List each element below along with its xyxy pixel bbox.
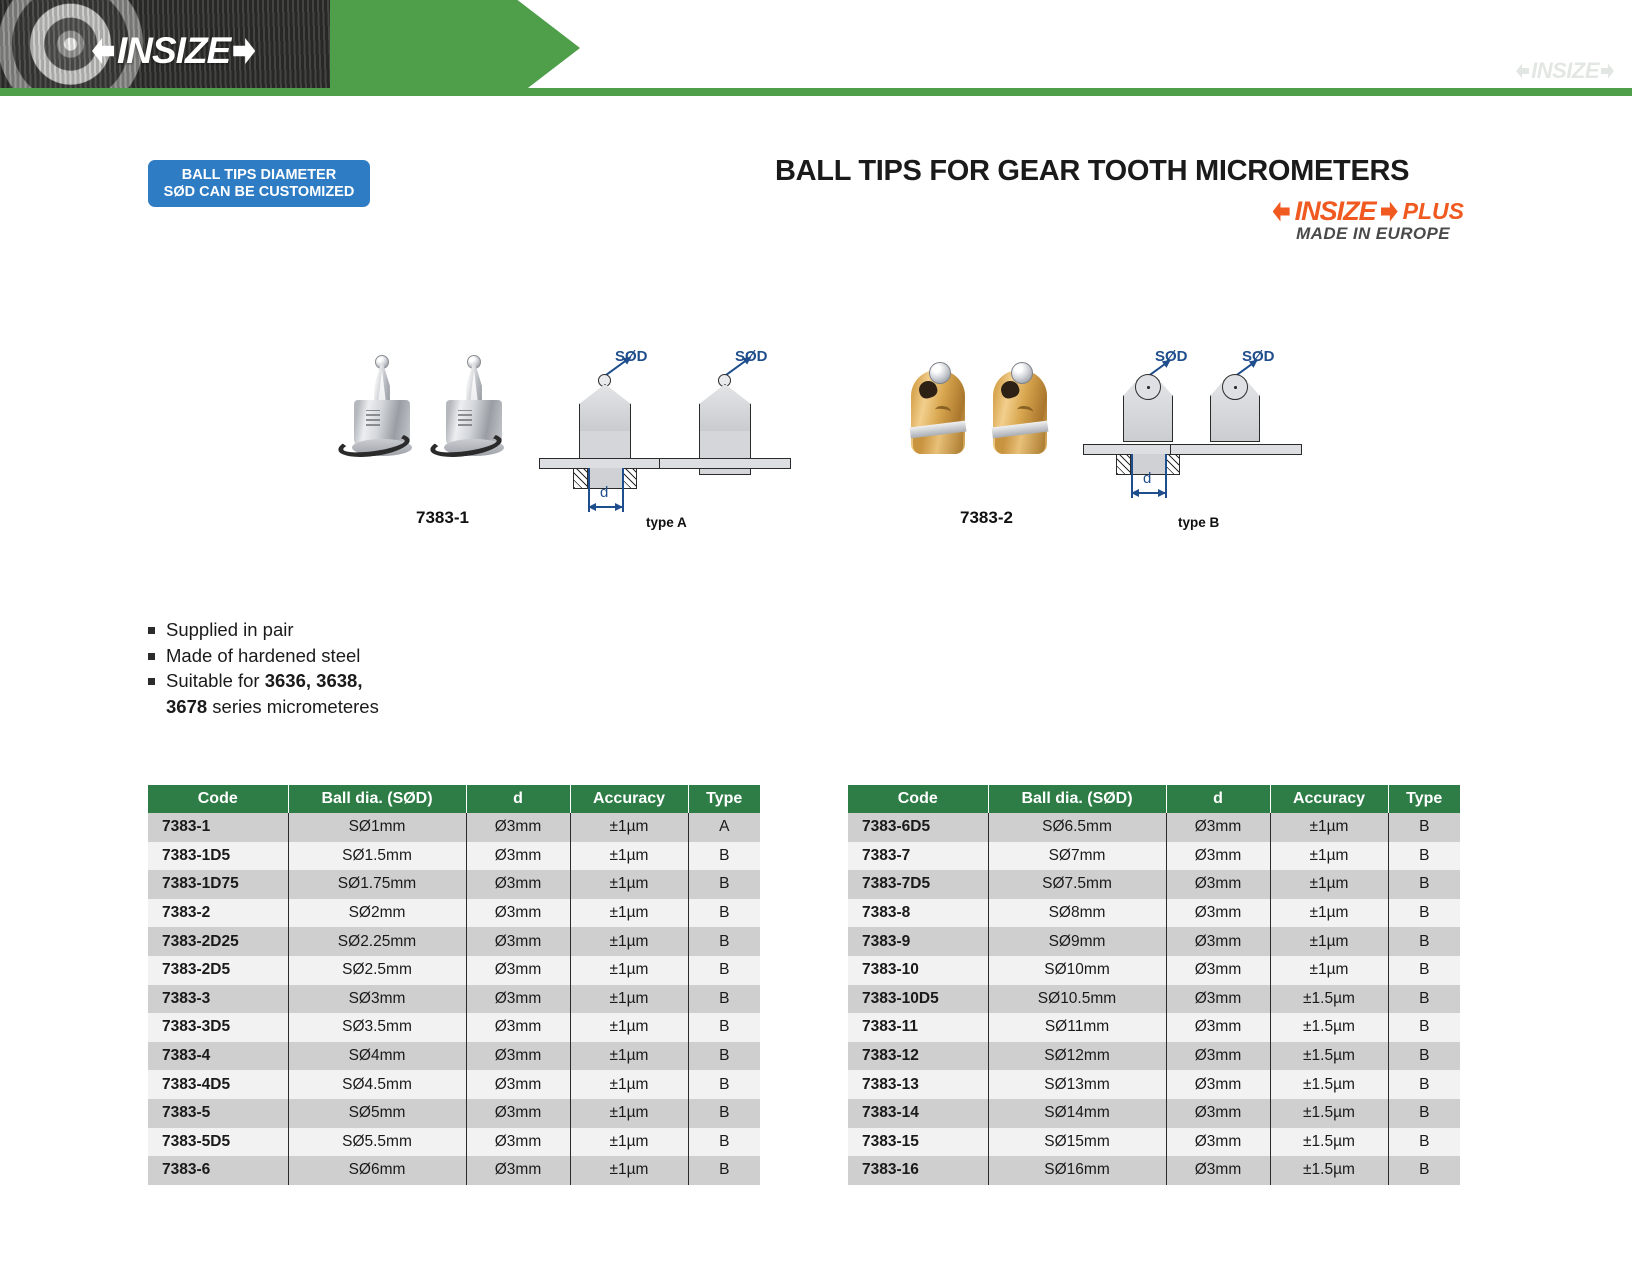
cell-accuracy: ±1µm [570,1156,688,1185]
cell-type: B [688,1042,760,1071]
cell-accuracy: ±1.5µm [1270,1156,1388,1185]
ball-tip-photo-a-2 [442,360,506,452]
table-row: 7383-6D5SØ6.5mmØ3mm±1µmB [848,813,1460,842]
tip-engraving [458,410,472,426]
feature-text: Made of hardened steel [166,644,360,668]
dim-arrow-left-icon [1131,489,1139,497]
cell-d: Ø3mm [1166,870,1270,899]
cell-d: Ø3mm [466,813,570,842]
table-row: 7383-2D5SØ2.5mmØ3mm±1µmB [148,956,760,985]
figure-left-type-label: type A [646,515,687,530]
cell-code: 7383-7D5 [848,870,988,899]
drawing-ball [1222,374,1248,400]
bullet-square-icon [148,678,155,685]
cell-code: 7383-15 [848,1128,988,1157]
figure-left-caption: 7383-1 [416,508,469,528]
table-row: 7383-15SØ15mmØ3mm±1.5µmB [848,1128,1460,1157]
cell-d: Ø3mm [1166,1156,1270,1185]
page-header: INSIZE INSIZE [0,0,1632,100]
column-header-d: d [466,785,570,813]
cell-ball-dia: SØ12mm [988,1042,1166,1071]
cell-type: B [688,842,760,871]
callout-line-1: BALL TIPS DIAMETER [182,167,336,184]
feature-series-list: 3636, 3638, [265,670,363,691]
column-header-accuracy: Accuracy [1270,785,1388,813]
drawing-hatch-right [622,468,637,489]
cell-ball-dia: SØ11mm [988,1013,1166,1042]
cell-type: B [1388,985,1460,1014]
cell-accuracy: ±1µm [1270,813,1388,842]
cell-d: Ø3mm [466,956,570,985]
cell-type: B [1388,1128,1460,1157]
list-item: Supplied in pair [148,618,608,642]
cell-d: Ø3mm [1166,1042,1270,1071]
cell-d: Ø3mm [466,1128,570,1157]
cell-code: 7383-4D5 [148,1070,288,1099]
cell-type: B [1388,927,1460,956]
cell-accuracy: ±1µm [570,1128,688,1157]
cell-accuracy: ±1µm [1270,842,1388,871]
cell-ball-dia: SØ2.25mm [288,927,466,956]
cell-ball-dia: SØ15mm [988,1128,1166,1157]
cell-d: Ø3mm [1166,985,1270,1014]
cell-d: Ø3mm [466,1070,570,1099]
cell-d: Ø3mm [1166,956,1270,985]
feature-text-continuation: 3678 series micrometeres [148,695,608,719]
spec-table-right-body: 7383-6D5SØ6.5mmØ3mm±1µmB7383-7SØ7mmØ3mm±… [848,813,1460,1185]
watermark-text: INSIZE [1531,58,1599,84]
table-row: 7383-9SØ9mmØ3mm±1µmB [848,927,1460,956]
cell-type: A [688,813,760,842]
insize-watermark: INSIZE [1516,58,1614,84]
cell-ball-dia: SØ13mm [988,1070,1166,1099]
cell-type: B [688,1070,760,1099]
table-row: 7383-7SØ7mmØ3mm±1µmB [848,842,1460,871]
table-row: 7383-12SØ12mmØ3mm±1.5µmB [848,1042,1460,1071]
table-row: 7383-5D5SØ5.5mmØ3mm±1µmB [148,1128,760,1157]
table-row: 7383-2D25SØ2.25mmØ3mm±1µmB [148,927,760,956]
cell-accuracy: ±1.5µm [1270,1042,1388,1071]
cell-type: B [1388,1099,1460,1128]
cell-d: Ø3mm [466,1099,570,1128]
feature-series-suffix: series micrometeres [207,696,379,717]
cell-ball-dia: SØ1.75mm [288,870,466,899]
table-row: 7383-3D5SØ3.5mmØ3mm±1µmB [148,1013,760,1042]
product-figures: 7383-1 SØD d SØD type A [0,330,1632,550]
drawing-mount-plate [659,458,791,469]
spec-table-right: Code Ball dia. (SØD) d Accuracy Type 738… [848,785,1460,1185]
header-green-arrow [330,0,580,96]
cell-code: 7383-12 [848,1042,988,1071]
cell-d: Ø3mm [1166,927,1270,956]
tip-ball-icon [929,362,951,384]
page-title: BALL TIPS FOR GEAR TOOTH MICROMETERS [775,155,1475,188]
cell-code: 7383-5D5 [148,1128,288,1157]
tip-o-ring [337,429,411,461]
cell-ball-dia: SØ14mm [988,1099,1166,1128]
cell-type: B [1388,1070,1460,1099]
cell-type: B [688,956,760,985]
cell-ball-dia: SØ4mm [288,1042,466,1071]
cell-code: 7383-1D5 [148,842,288,871]
drawing-hatch-left [573,468,588,489]
cell-type: B [688,1128,760,1157]
plus-left-arrow-icon [1273,202,1290,222]
table-row: 7383-14SØ14mmØ3mm±1.5µmB [848,1099,1460,1128]
cell-d: Ø3mm [466,1156,570,1185]
bullet-square-icon [148,627,155,634]
callout-line-2: SØD CAN BE CUSTOMIZED [164,184,355,201]
cell-accuracy: ±1µm [570,1070,688,1099]
cell-ball-dia: SØ7.5mm [988,870,1166,899]
cell-type: B [688,927,760,956]
cell-code: 7383-1D75 [148,870,288,899]
cell-code: 7383-13 [848,1070,988,1099]
figure-right-caption: 7383-2 [960,508,1013,528]
insize-plus-insize-text: INSIZE [1295,196,1376,227]
cell-code: 7383-2D25 [148,927,288,956]
cell-accuracy: ±1µm [570,956,688,985]
cell-accuracy: ±1.5µm [1270,1128,1388,1157]
column-header-type: Type [1388,785,1460,813]
cell-type: B [688,1013,760,1042]
cell-type: B [688,985,760,1014]
drawing-mount-plate [1170,444,1302,455]
list-item: Made of hardened steel [148,644,608,668]
table-row: 7383-5SØ5mmØ3mm±1µmB [148,1099,760,1128]
cell-accuracy: ±1.5µm [1270,1013,1388,1042]
cell-ball-dia: SØ5.5mm [288,1128,466,1157]
drawing-hatch-left [1116,454,1131,475]
plus-right-arrow-icon [1381,202,1398,222]
figure-right-type-label: type B [1178,515,1219,530]
table-row: 7383-3SØ3mmØ3mm±1µmB [148,985,760,1014]
list-item: Suitable for 3636, 3638, [148,669,608,693]
cell-d: Ø3mm [466,1042,570,1071]
cell-code: 7383-9 [848,927,988,956]
customization-callout: BALL TIPS DIAMETER SØD CAN BE CUSTOMIZED [148,160,370,207]
insize-plus-plus-text: PLUS [1403,198,1464,225]
cell-ball-dia: SØ1mm [288,813,466,842]
cell-type: B [1388,813,1460,842]
cell-type: B [1388,1042,1460,1071]
cell-ball-dia: SØ1.5mm [288,842,466,871]
cell-d: Ø3mm [1166,842,1270,871]
cell-accuracy: ±1µm [1270,956,1388,985]
cell-ball-dia: SØ8mm [988,899,1166,928]
cell-type: B [688,1099,760,1128]
drawing-cone [699,384,751,432]
cell-code: 7383-5 [148,1099,288,1128]
feature-text-prefix: Suitable for [166,670,265,691]
column-header-type: Type [688,785,760,813]
cell-accuracy: ±1µm [570,870,688,899]
header-green-rule [0,88,1632,96]
cell-type: B [1388,1013,1460,1042]
cell-ball-dia: SØ7mm [988,842,1166,871]
cell-code: 7383-10D5 [848,985,988,1014]
d-label: d [600,484,608,501]
column-header-code: Code [848,785,988,813]
made-in-europe-label: MADE IN EUROPE [1296,224,1450,244]
table-row: 7383-10D5SØ10.5mmØ3mm±1.5µmB [848,985,1460,1014]
cell-accuracy: ±1.5µm [1270,1099,1388,1128]
table-row: 7383-16SØ16mmØ3mm±1.5µmB [848,1156,1460,1185]
cell-accuracy: ±1µm [1270,899,1388,928]
cell-ball-dia: SØ6.5mm [988,813,1166,842]
cell-code: 7383-6 [148,1156,288,1185]
table-row: 7383-1SØ1mmØ3mm±1µmA [148,813,760,842]
cell-accuracy: ±1µm [570,927,688,956]
cell-type: B [1388,1156,1460,1185]
column-header-d: d [1166,785,1270,813]
cell-code: 7383-2D5 [148,956,288,985]
cell-accuracy: ±1µm [570,1042,688,1071]
drawing-ball [1135,374,1161,400]
cell-code: 7383-1 [148,813,288,842]
spec-table-left-body: 7383-1SØ1mmØ3mm±1µmA7383-1D5SØ1.5mmØ3mm±… [148,813,760,1185]
dim-arrow-right-icon [615,503,623,511]
cell-type: B [1388,899,1460,928]
insize-logo-text: INSIZE [117,30,230,72]
cell-ball-dia: SØ6mm [288,1156,466,1185]
tip-o-ring [429,429,503,461]
ball-tip-photo-a-1 [350,360,414,452]
cell-type: B [688,899,760,928]
column-header-ball-dia: Ball dia. (SØD) [288,785,466,813]
table-row: 7383-4SØ4mmØ3mm±1µmB [148,1042,760,1071]
cell-ball-dia: SØ5mm [288,1099,466,1128]
cell-accuracy: ±1µm [1270,870,1388,899]
insize-plus-logo: INSIZE PLUS [1273,196,1464,227]
cell-code: 7383-6D5 [848,813,988,842]
logo-left-arrow-icon [92,38,114,64]
table-row: 7383-2SØ2mmØ3mm±1µmB [148,899,760,928]
cell-ball-dia: SØ2mm [288,899,466,928]
cell-ball-dia: SØ3.5mm [288,1013,466,1042]
bullet-square-icon [148,653,155,660]
dim-arrow-left-icon [588,503,596,511]
cell-code: 7383-4 [148,1042,288,1071]
cell-d: Ø3mm [466,927,570,956]
cell-code: 7383-16 [848,1156,988,1185]
cell-accuracy: ±1µm [570,899,688,928]
cell-accuracy: ±1.5µm [1270,985,1388,1014]
dim-arrow-right-icon [1158,489,1166,497]
cell-d: Ø3mm [1166,1099,1270,1128]
column-header-accuracy: Accuracy [570,785,688,813]
feature-series-continued: 3678 [166,696,207,717]
cell-d: Ø3mm [466,985,570,1014]
cell-ball-dia: SØ10mm [988,956,1166,985]
cell-ball-dia: SØ2.5mm [288,956,466,985]
cell-d: Ø3mm [1166,1070,1270,1099]
table-row: 7383-1D5SØ1.5mmØ3mm±1µmB [148,842,760,871]
cell-code: 7383-3D5 [148,1013,288,1042]
drawing-cone [579,384,631,432]
ball-tip-photo-b-2 [987,362,1051,454]
cell-accuracy: ±1µm [1270,927,1388,956]
cell-code: 7383-3 [148,985,288,1014]
cell-type: B [1388,842,1460,871]
cell-accuracy: ±1.5µm [1270,1070,1388,1099]
feature-text-compatibility: Suitable for 3636, 3638, [166,669,362,693]
cell-d: Ø3mm [466,842,570,871]
cell-code: 7383-11 [848,1013,988,1042]
cell-d: Ø3mm [1166,813,1270,842]
cell-type: B [688,1156,760,1185]
spec-table-left: Code Ball dia. (SØD) d Accuracy Type 738… [148,785,760,1185]
cell-d: Ø3mm [466,899,570,928]
watermark-left-arrow-icon [1516,64,1529,79]
table-header-row: Code Ball dia. (SØD) d Accuracy Type [148,785,760,813]
tip-engraving [366,410,380,426]
table-row: 7383-8SØ8mmØ3mm±1µmB [848,899,1460,928]
cell-code: 7383-14 [848,1099,988,1128]
cell-accuracy: ±1µm [570,1013,688,1042]
cell-type: B [1388,956,1460,985]
cell-accuracy: ±1µm [570,813,688,842]
cell-accuracy: ±1µm [570,842,688,871]
cell-type: B [688,870,760,899]
cell-d: Ø3mm [466,1013,570,1042]
watermark-right-arrow-icon [1601,64,1614,79]
table-row: 7383-10SØ10mmØ3mm±1µmB [848,956,1460,985]
table-row: 7383-6SØ6mmØ3mm±1µmB [148,1156,760,1185]
cell-d: Ø3mm [1166,1128,1270,1157]
cell-code: 7383-7 [848,842,988,871]
column-header-code: Code [148,785,288,813]
drawing-hatch-right [1165,454,1180,475]
tip-ball-icon [1011,362,1033,384]
cell-code: 7383-8 [848,899,988,928]
logo-right-arrow-icon [233,38,255,64]
cell-d: Ø3mm [1166,1013,1270,1042]
d-label: d [1143,470,1151,487]
cell-accuracy: ±1µm [570,1099,688,1128]
cell-type: B [1388,870,1460,899]
ball-tip-photo-b-1 [905,362,969,454]
table-row: 7383-1D75SØ1.75mmØ3mm±1µmB [148,870,760,899]
feature-list: Supplied in pair Made of hardened steel … [148,618,608,718]
insize-logo: INSIZE [92,30,255,72]
table-row: 7383-11SØ11mmØ3mm±1.5µmB [848,1013,1460,1042]
cell-accuracy: ±1µm [570,985,688,1014]
cell-code: 7383-2 [148,899,288,928]
cell-ball-dia: SØ10.5mm [988,985,1166,1014]
cell-d: Ø3mm [1166,899,1270,928]
table-row: 7383-7D5SØ7.5mmØ3mm±1µmB [848,870,1460,899]
table-row: 7383-4D5SØ4.5mmØ3mm±1µmB [148,1070,760,1099]
cell-ball-dia: SØ9mm [988,927,1166,956]
cell-ball-dia: SØ16mm [988,1156,1166,1185]
cell-d: Ø3mm [466,870,570,899]
table-row: 7383-13SØ13mmØ3mm±1.5µmB [848,1070,1460,1099]
cell-code: 7383-10 [848,956,988,985]
cell-ball-dia: SØ4.5mm [288,1070,466,1099]
cell-ball-dia: SØ3mm [288,985,466,1014]
table-header-row: Code Ball dia. (SØD) d Accuracy Type [848,785,1460,813]
feature-text: Supplied in pair [166,618,294,642]
column-header-ball-dia: Ball dia. (SØD) [988,785,1166,813]
